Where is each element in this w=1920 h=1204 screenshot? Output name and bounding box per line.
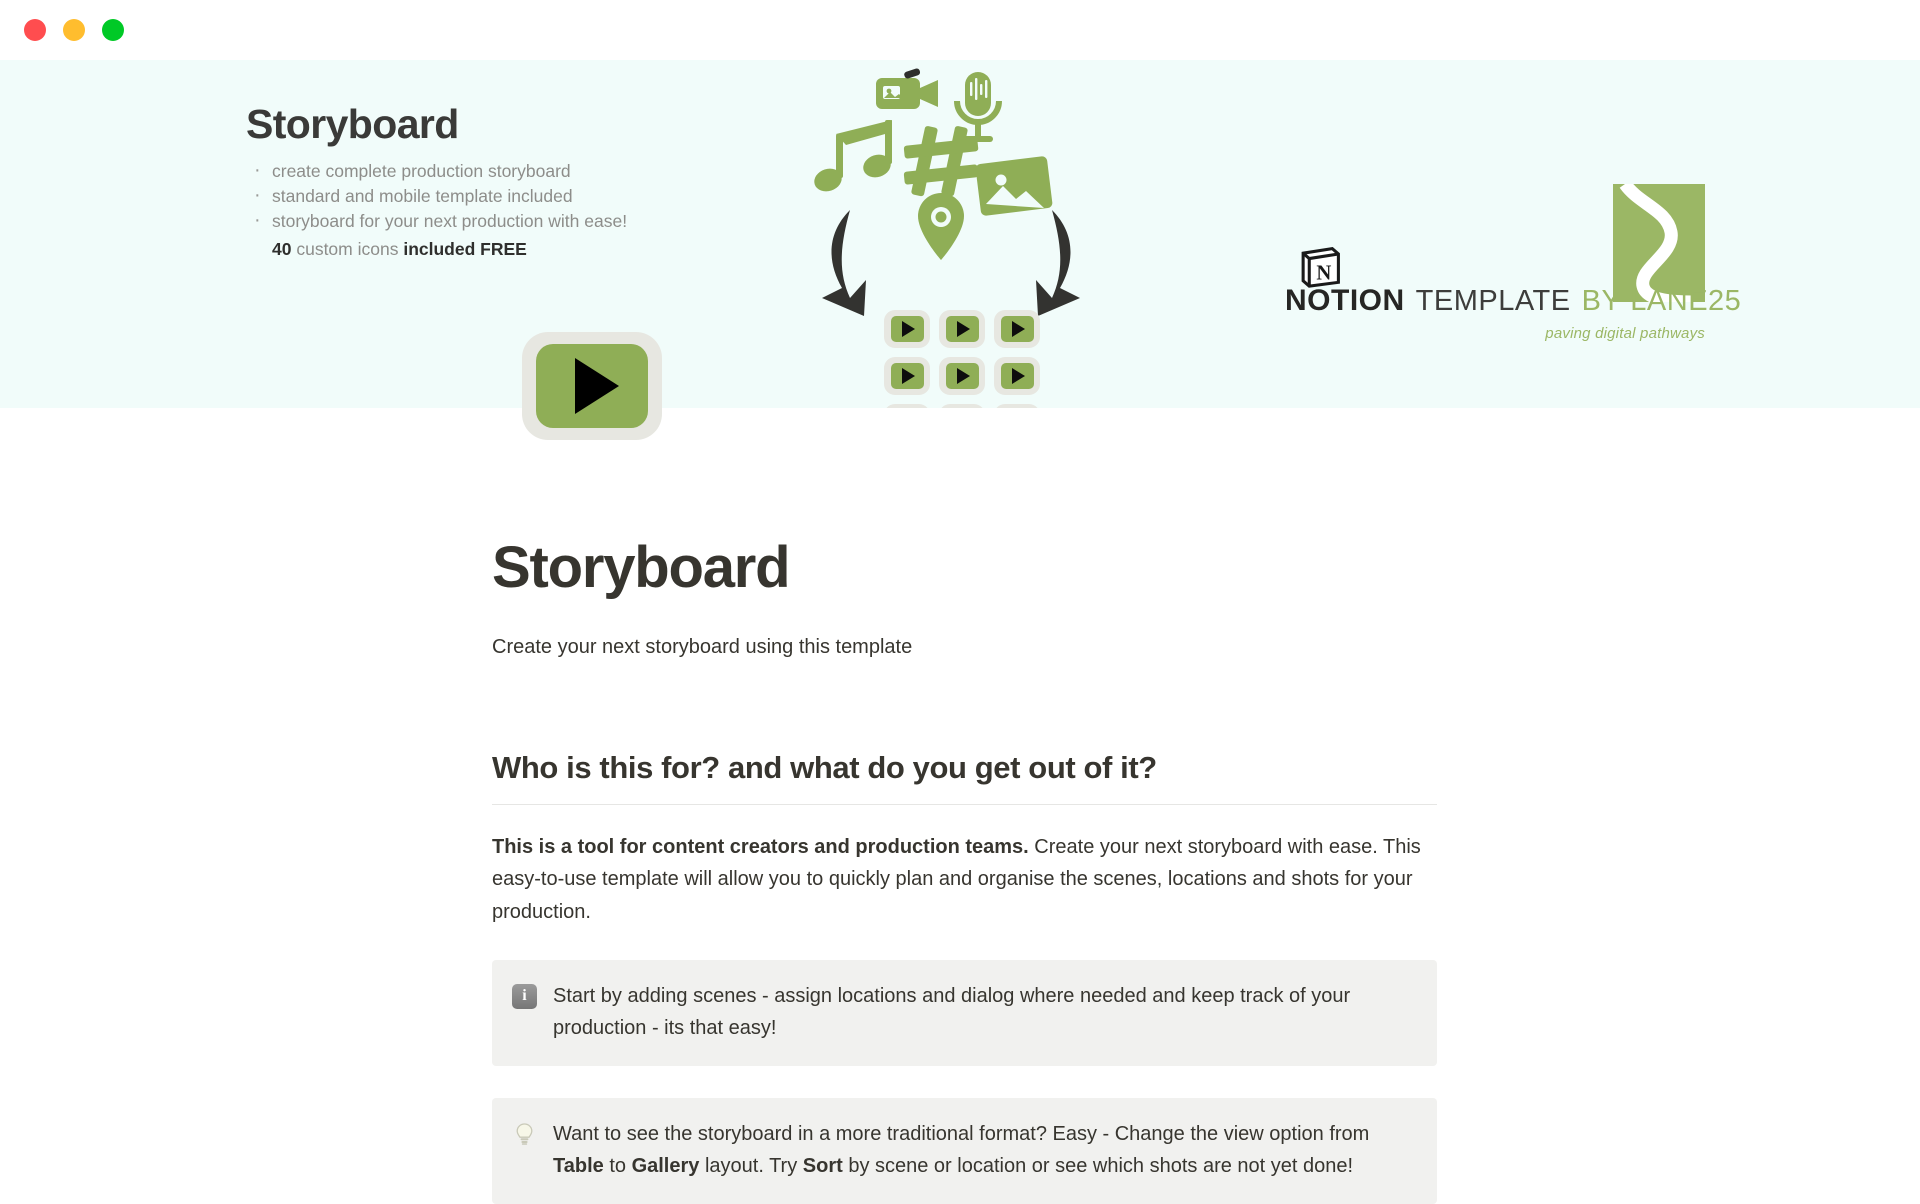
play-icon [1001, 363, 1034, 389]
section-divider [492, 804, 1437, 805]
cover-feature-item: standard and mobile template included [246, 184, 716, 209]
brand-wordmark: NOTION TEMPLATE BY LANE25 [1285, 284, 1741, 318]
cover-free-middle: custom icons [291, 239, 403, 259]
arrow-down-left-icon [822, 210, 866, 316]
callout-tip[interactable]: Want to see the storyboard in a more tra… [492, 1098, 1437, 1204]
video-camera-icon [876, 68, 938, 109]
cover-feature-list: create complete production storyboard st… [246, 159, 716, 234]
image-icon [975, 156, 1053, 216]
tip-part-3: layout. Try [699, 1155, 802, 1177]
play-icon [891, 363, 924, 389]
brand-word-notion: NOTION [1285, 284, 1405, 318]
brand-word-template: TEMPLATE [1416, 285, 1571, 318]
brand-lockup: N NOTION TEMPLATE BY LANE25 paving digit… [1285, 218, 1705, 348]
location-pin-icon [918, 193, 964, 260]
play-grid-cell [939, 357, 985, 395]
cover-title: Storyboard [246, 102, 716, 147]
play-grid-cell [939, 310, 985, 348]
brand-tagline: paving digital pathways [1545, 325, 1705, 342]
info-icon: i [512, 984, 537, 1009]
page-content: Storyboard Create your next storyboard u… [0, 408, 1920, 1204]
play-grid-cell [884, 357, 930, 395]
minimize-button[interactable] [63, 19, 85, 41]
play-grid-cell [994, 357, 1040, 395]
cover-free-icons-line: 40 custom icons included FREE [246, 237, 716, 262]
music-note-icon [811, 120, 893, 195]
tip-bold-table: Table [553, 1155, 604, 1177]
intro-paragraph[interactable]: This is a tool for content creators and … [492, 831, 1432, 928]
tip-part-2: to [604, 1155, 632, 1177]
cover-text-block: Storyboard create complete production st… [246, 102, 716, 261]
callout-tip-text: Want to see the storyboard in a more tra… [553, 1118, 1415, 1183]
close-button[interactable] [24, 19, 46, 41]
play-icon [946, 363, 979, 389]
lightbulb-icon [512, 1122, 537, 1147]
tip-bold-gallery: Gallery [632, 1155, 700, 1177]
cover-feature-item: create complete production storyboard [246, 159, 716, 184]
cover-free-emphasis: included FREE [403, 239, 526, 259]
window-controls [24, 19, 124, 41]
intro-bold-lead: This is a tool for content creators and … [492, 836, 1029, 858]
section-heading[interactable]: Who is this for? and what do you get out… [492, 750, 1920, 786]
cover-free-count: 40 [272, 239, 291, 259]
window-titlebar [0, 0, 1920, 60]
callout-info[interactable]: i Start by adding scenes - assign locati… [492, 960, 1437, 1066]
brand-word-by: BY [1582, 285, 1622, 318]
arrow-down-right-icon [1036, 210, 1080, 316]
play-icon [1001, 316, 1034, 342]
callout-info-text: Start by adding scenes - assign location… [553, 980, 1415, 1045]
play-grid-cell [884, 310, 930, 348]
cover-illustration [800, 60, 1100, 408]
page-cover-banner[interactable]: Storyboard create complete production st… [0, 60, 1920, 408]
play-grid-cell [994, 310, 1040, 348]
page-title[interactable]: Storyboard [492, 536, 1920, 600]
brand-word-lane: LANE25 [1630, 285, 1741, 318]
play-icon [891, 316, 924, 342]
tip-part-4: by scene or location or see which shots … [843, 1155, 1353, 1177]
page-subtitle[interactable]: Create your next storyboard using this t… [492, 632, 1920, 662]
svg-text:N: N [1316, 262, 1331, 284]
play-icon [946, 316, 979, 342]
maximize-button[interactable] [102, 19, 124, 41]
cover-feature-item: storyboard for your next production with… [246, 209, 716, 234]
tip-bold-sort: Sort [803, 1155, 843, 1177]
tip-part-1: Want to see the storyboard in a more tra… [553, 1123, 1369, 1145]
